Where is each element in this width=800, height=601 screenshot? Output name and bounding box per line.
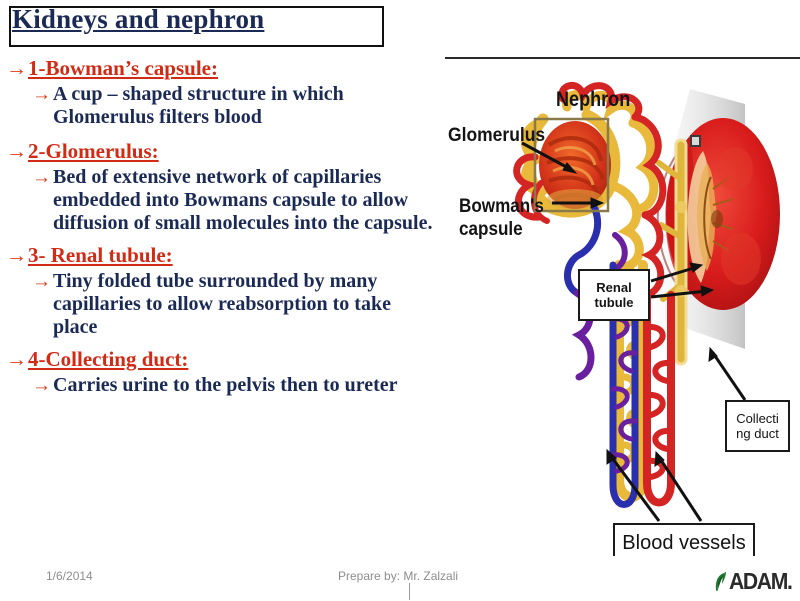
- adam-logo: ADAM.: [713, 570, 795, 596]
- callout-renal-tubule-line1: Renal: [596, 280, 631, 295]
- adam-logo-text: ADAM.: [729, 568, 791, 595]
- list-item-label: 2-Glomerulus:: [28, 139, 159, 164]
- label-glomerulus: Glomerulus: [448, 125, 545, 147]
- list-item-detail: → Bed of extensive network of capillarie…: [32, 166, 438, 235]
- list-item-label: Tiny folded tube surrounded by many capi…: [53, 270, 438, 339]
- list-item-detail: → Carries urine to the pelvis then to ur…: [32, 374, 438, 397]
- callout-renal-tubule-line2: tubule: [595, 295, 634, 310]
- callout-blood-vessels: Blood vessels: [613, 523, 755, 556]
- bullet-list: → 1-Bowman’s capsule: → A cup – shaped s…: [6, 56, 438, 400]
- list-item-heading: → 1-Bowman’s capsule:: [6, 56, 438, 81]
- arrow-icon: →: [32, 83, 51, 106]
- callout-collecting-duct-line2: ng duct: [736, 426, 779, 441]
- list-item-heading: → 2-Glomerulus:: [6, 139, 438, 164]
- list-item-heading: → 3- Renal tubule:: [6, 243, 438, 268]
- list-item-label: A cup – shaped structure in which Glomer…: [53, 83, 438, 129]
- blood-vessels-vein: [567, 209, 635, 505]
- list-item-heading: → 4-Collecting duct:: [6, 347, 438, 372]
- arrow-icon: →: [32, 270, 51, 293]
- list-item-label: 1-Bowman’s capsule:: [28, 56, 218, 81]
- arrow-icon: →: [6, 56, 27, 81]
- page-title: Kidneys and nephron: [12, 4, 264, 35]
- arrow-icon: →: [6, 139, 27, 164]
- arrow-icon: →: [6, 243, 27, 268]
- callout-collecting-duct: Collecti ng duct: [725, 400, 790, 452]
- list-item-label: 4-Collecting duct:: [28, 347, 188, 372]
- label-bowmans-capsule-line2: capsule: [459, 219, 523, 240]
- list-item-label: 3- Renal tubule:: [28, 243, 173, 268]
- callout-renal-tubule: Renal tubule: [578, 269, 650, 321]
- slide-canvas: Kidneys and nephron → 1-Bowman’s capsule…: [0, 0, 800, 600]
- list-item-label: Bed of extensive network of capillaries …: [53, 166, 438, 235]
- list-item-label: Carries urine to the pelvis then to uret…: [53, 374, 398, 397]
- list-item-detail: → A cup – shaped structure in which Glom…: [32, 83, 438, 129]
- label-nephron: Nephron: [556, 88, 630, 112]
- callout-collecting-duct-line1: Collecti: [736, 411, 779, 426]
- footer-author: Prepare by: Mr. Zalzali: [338, 569, 458, 583]
- footer-tick-mark: [409, 583, 410, 600]
- label-bowmans-capsule-line1: Bowman's: [459, 196, 544, 217]
- list-item-detail: → Tiny folded tube surrounded by many ca…: [32, 270, 438, 339]
- arrow-icon: →: [6, 347, 27, 372]
- glomerulus: [539, 121, 611, 209]
- arrow-icon: →: [32, 374, 51, 397]
- footer-date: 1/6/2014: [46, 569, 93, 583]
- label-bowmans-capsule: Bowman's capsule: [459, 195, 544, 241]
- arrow-icon: →: [32, 166, 51, 189]
- nephron-diagram: Nephron Glomerulus Bowman's capsule Rena…: [445, 57, 800, 556]
